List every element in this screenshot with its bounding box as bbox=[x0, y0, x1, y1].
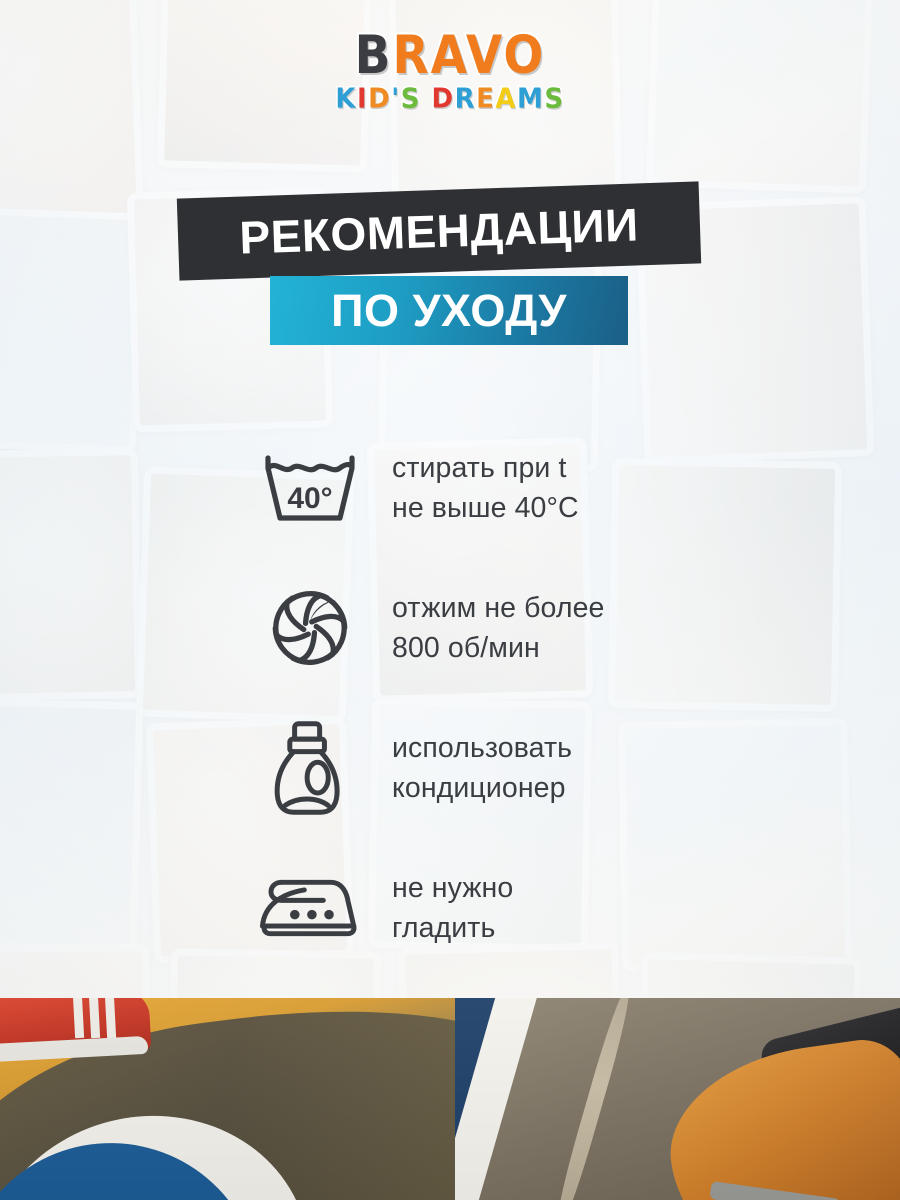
care-line-2: гладить bbox=[392, 908, 513, 948]
spin-cycle-icon bbox=[246, 584, 374, 672]
headline-banner-secondary: ПО УХОДУ bbox=[270, 276, 628, 345]
tagline-letter-9: A bbox=[495, 83, 517, 115]
brand-letter-3: V bbox=[466, 25, 504, 87]
care-item-text: не нужно гладить bbox=[374, 868, 513, 949]
care-line-2: кондиционер bbox=[392, 768, 572, 808]
care-item-spin: отжим не более 800 об/мин bbox=[246, 558, 766, 698]
iron-icon bbox=[246, 869, 374, 947]
care-item-text: отжим не более 800 об/мин bbox=[374, 588, 605, 669]
svg-text:40°: 40° bbox=[287, 482, 332, 515]
care-item-softener: использовать кондиционер bbox=[246, 698, 766, 838]
tagline-letter-11: S bbox=[544, 83, 564, 115]
care-line-1: не нужно bbox=[392, 872, 513, 904]
care-line-1: отжим не более bbox=[392, 592, 605, 624]
headline-line-1: РЕКОМЕНДАЦИИ bbox=[239, 197, 640, 264]
tagline-letter-7: R bbox=[455, 83, 477, 115]
tagline-letter-1: I bbox=[357, 83, 368, 115]
headline-line-2: ПО УХОДУ bbox=[331, 285, 567, 337]
care-line-1: использовать bbox=[392, 732, 572, 764]
care-line-1: стирать при t bbox=[392, 452, 566, 484]
bottom-photo-strip bbox=[0, 998, 900, 1200]
care-instructions-list: 40° стирать при t не выше 40°C bbox=[246, 418, 766, 978]
care-line-2: не выше 40°C bbox=[392, 488, 579, 528]
brand-letter-4: O bbox=[503, 25, 545, 87]
tagline-letter-5 bbox=[421, 83, 432, 115]
care-instructions-page: BRAVO KID'S DREAMS РЕКОМЕНДАЦИИ ПО УХОДУ… bbox=[0, 0, 900, 1200]
tagline-letter-3: ' bbox=[391, 83, 400, 115]
tagline-letter-8: E bbox=[476, 83, 495, 115]
brand-tagline: KID'S DREAMS bbox=[335, 85, 564, 112]
photo-left bbox=[0, 998, 455, 1200]
brand-logo: BRAVO KID'S DREAMS bbox=[0, 32, 900, 112]
photo-right bbox=[455, 998, 900, 1200]
headline-banner-primary: РЕКОМЕНДАЦИИ bbox=[177, 181, 701, 280]
tagline-letter-4: S bbox=[401, 83, 421, 115]
fabric-softener-bottle-icon bbox=[246, 718, 374, 818]
care-item-wash: 40° стирать при t не выше 40°C bbox=[246, 418, 766, 558]
brand-name: BRAVO bbox=[355, 29, 546, 82]
wash-tub-40-icon: 40° bbox=[246, 450, 374, 526]
brand-letter-2: A bbox=[431, 25, 466, 87]
brand-letter-1: R bbox=[392, 25, 430, 87]
tagline-letter-0: K bbox=[335, 83, 357, 115]
care-item-text: стирать при t не выше 40°C bbox=[374, 448, 579, 529]
care-line-2: 800 об/мин bbox=[392, 628, 605, 668]
brand-letter-0: B bbox=[355, 25, 393, 87]
tagline-letter-10: M bbox=[517, 83, 544, 115]
care-item-iron: не нужно гладить bbox=[246, 838, 766, 978]
tagline-letter-6: D bbox=[432, 83, 455, 115]
tagline-letter-2: D bbox=[368, 83, 391, 115]
care-item-text: использовать кондиционер bbox=[374, 728, 572, 809]
